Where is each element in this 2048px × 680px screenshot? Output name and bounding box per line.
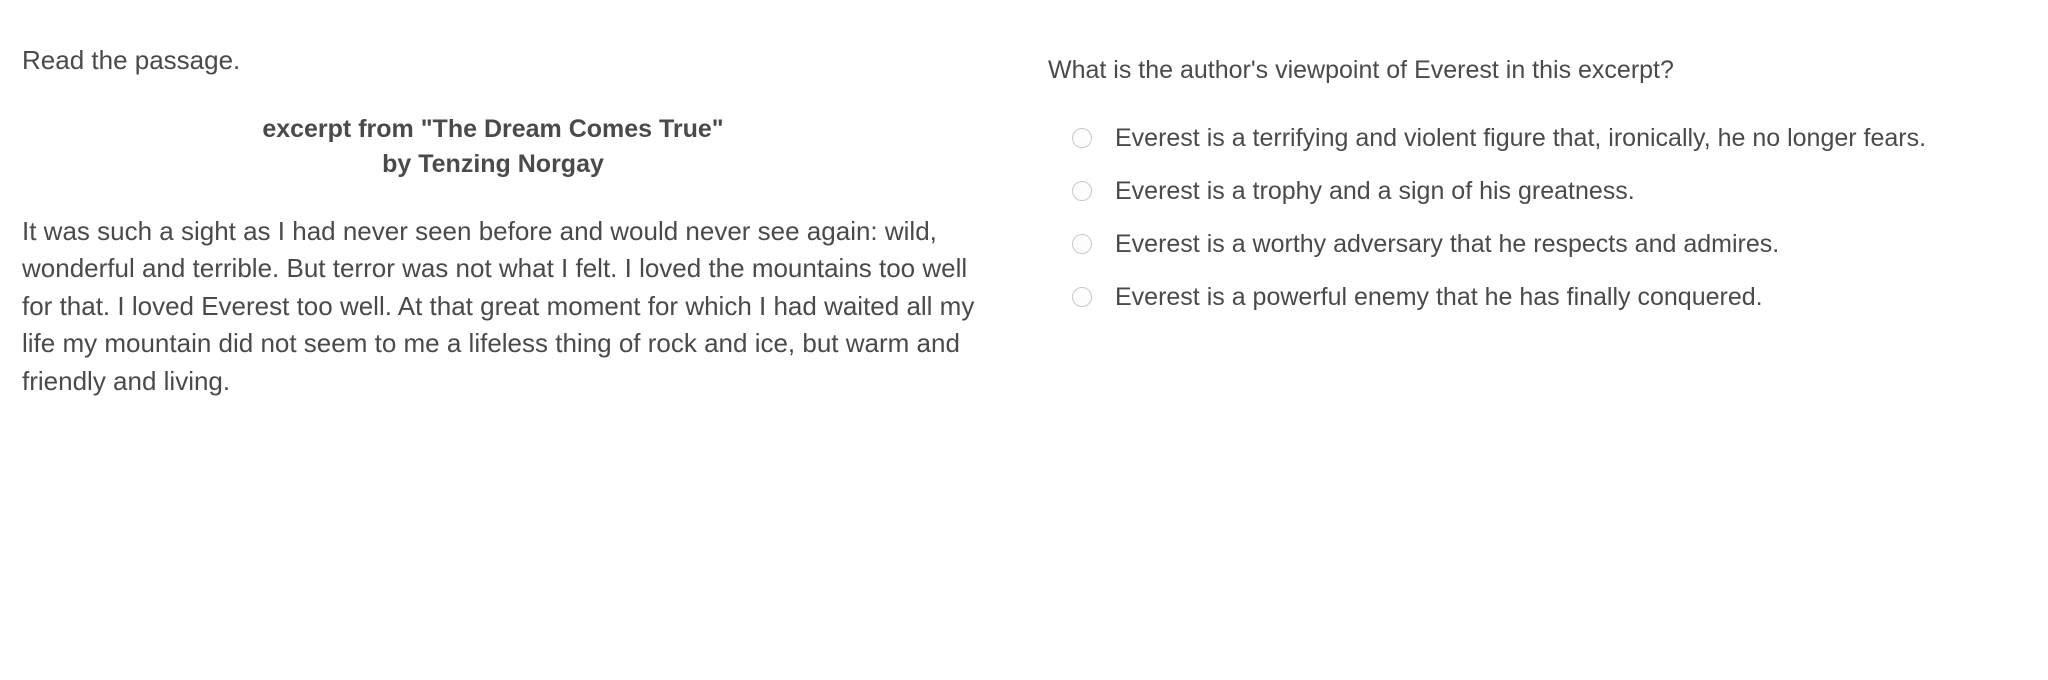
answer-option-3[interactable]: Everest is a worthy adversary that he re… bbox=[1048, 227, 1978, 261]
answer-option-label-1: Everest is a terrifying and violent figu… bbox=[1115, 121, 1926, 155]
quiz-page: Read the passage. excerpt from "The Drea… bbox=[0, 0, 2048, 680]
answer-option-2[interactable]: Everest is a trophy and a sign of his gr… bbox=[1048, 174, 1978, 208]
radio-button-icon-1[interactable] bbox=[1072, 128, 1092, 148]
radio-button-icon-3[interactable] bbox=[1072, 234, 1092, 254]
question-column: What is the author's viewpoint of Everes… bbox=[1048, 54, 1978, 314]
read-passage-instruction: Read the passage. bbox=[22, 44, 982, 78]
radio-button-icon-4[interactable] bbox=[1072, 287, 1092, 307]
excerpt-byline: by Tenzing Norgay bbox=[22, 147, 964, 183]
answer-option-label-2: Everest is a trophy and a sign of his gr… bbox=[1115, 174, 1635, 208]
answer-option-label-3: Everest is a worthy adversary that he re… bbox=[1115, 227, 1779, 261]
excerpt-title: excerpt from "The Dream Comes True" bbox=[22, 112, 964, 148]
answer-options-list: Everest is a terrifying and violent figu… bbox=[1048, 121, 1978, 314]
question-prompt: What is the author's viewpoint of Everes… bbox=[1048, 54, 1978, 87]
passage-body-text: It was such a sight as I had never seen … bbox=[22, 213, 982, 400]
answer-option-label-4: Everest is a powerful enemy that he has … bbox=[1115, 280, 1763, 314]
answer-option-1[interactable]: Everest is a terrifying and violent figu… bbox=[1048, 121, 1978, 155]
passage-column: Read the passage. excerpt from "The Drea… bbox=[22, 44, 982, 400]
answer-option-4[interactable]: Everest is a powerful enemy that he has … bbox=[1048, 280, 1978, 314]
excerpt-heading: excerpt from "The Dream Comes True" by T… bbox=[22, 112, 982, 183]
radio-button-icon-2[interactable] bbox=[1072, 181, 1092, 201]
